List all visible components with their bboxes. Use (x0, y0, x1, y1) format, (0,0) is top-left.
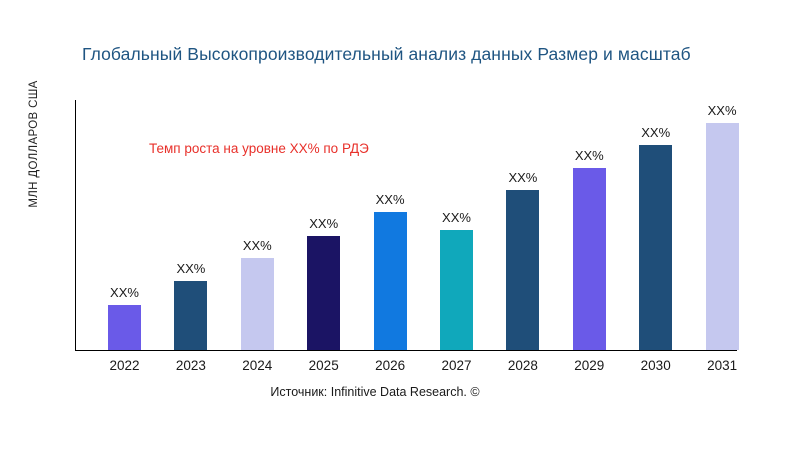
bar-value-label: XX% (708, 103, 737, 118)
y-axis-label: МЛН ДОЛЛАРОВ США (28, 44, 40, 244)
source-note: Источник: Infinitive Data Research. © (0, 385, 750, 399)
bar-group[interactable]: XX%2027 (440, 100, 473, 350)
bar[interactable] (307, 236, 340, 350)
x-axis-tick-label: 2025 (309, 358, 339, 373)
bar[interactable] (241, 258, 274, 350)
bar[interactable] (573, 168, 606, 350)
x-axis-line (75, 350, 737, 351)
bar-group[interactable]: XX%2025 (307, 100, 340, 350)
bar-chart: Глобальный Высокопроизводительный анализ… (0, 0, 800, 450)
bar-value-label: XX% (442, 210, 471, 225)
x-axis-tick-label: 2030 (641, 358, 671, 373)
bar-group[interactable]: XX%2023 (174, 100, 207, 350)
y-axis-line (75, 100, 76, 350)
x-axis-tick-label: 2022 (109, 358, 139, 373)
x-axis-tick-label: 2029 (574, 358, 604, 373)
bar-group[interactable]: XX%2024 (241, 100, 274, 350)
bar[interactable] (706, 123, 739, 350)
bar-group[interactable]: XX%2022 (108, 100, 141, 350)
bar-value-label: XX% (508, 170, 537, 185)
plot-area: Темп роста на уровне XX% по РДЭ XX%2022X… (75, 100, 800, 351)
bar[interactable] (108, 305, 141, 350)
bar[interactable] (639, 145, 672, 350)
x-axis-tick-label: 2028 (508, 358, 538, 373)
chart-title: Глобальный Высокопроизводительный анализ… (82, 44, 800, 65)
bar-group[interactable]: XX%2029 (573, 100, 606, 350)
x-axis-tick-label: 2024 (242, 358, 272, 373)
bar[interactable] (174, 281, 207, 350)
bar-group[interactable]: XX%2031 (706, 100, 739, 350)
bar-value-label: XX% (110, 285, 139, 300)
bar-group[interactable]: XX%2030 (639, 100, 672, 350)
bar-value-label: XX% (243, 238, 272, 253)
bar-value-label: XX% (309, 216, 338, 231)
bar[interactable] (506, 190, 539, 350)
bar-value-label: XX% (575, 148, 604, 163)
bar-value-label: XX% (641, 125, 670, 140)
x-axis-tick-label: 2031 (707, 358, 737, 373)
bar[interactable] (374, 212, 407, 350)
bar[interactable] (440, 230, 473, 350)
x-axis-tick-label: 2027 (441, 358, 471, 373)
bar-value-label: XX% (176, 261, 205, 276)
bar-group[interactable]: XX%2026 (374, 100, 407, 350)
x-axis-tick-label: 2026 (375, 358, 405, 373)
bar-value-label: XX% (376, 192, 405, 207)
bar-group[interactable]: XX%2028 (506, 100, 539, 350)
x-axis-tick-label: 2023 (176, 358, 206, 373)
